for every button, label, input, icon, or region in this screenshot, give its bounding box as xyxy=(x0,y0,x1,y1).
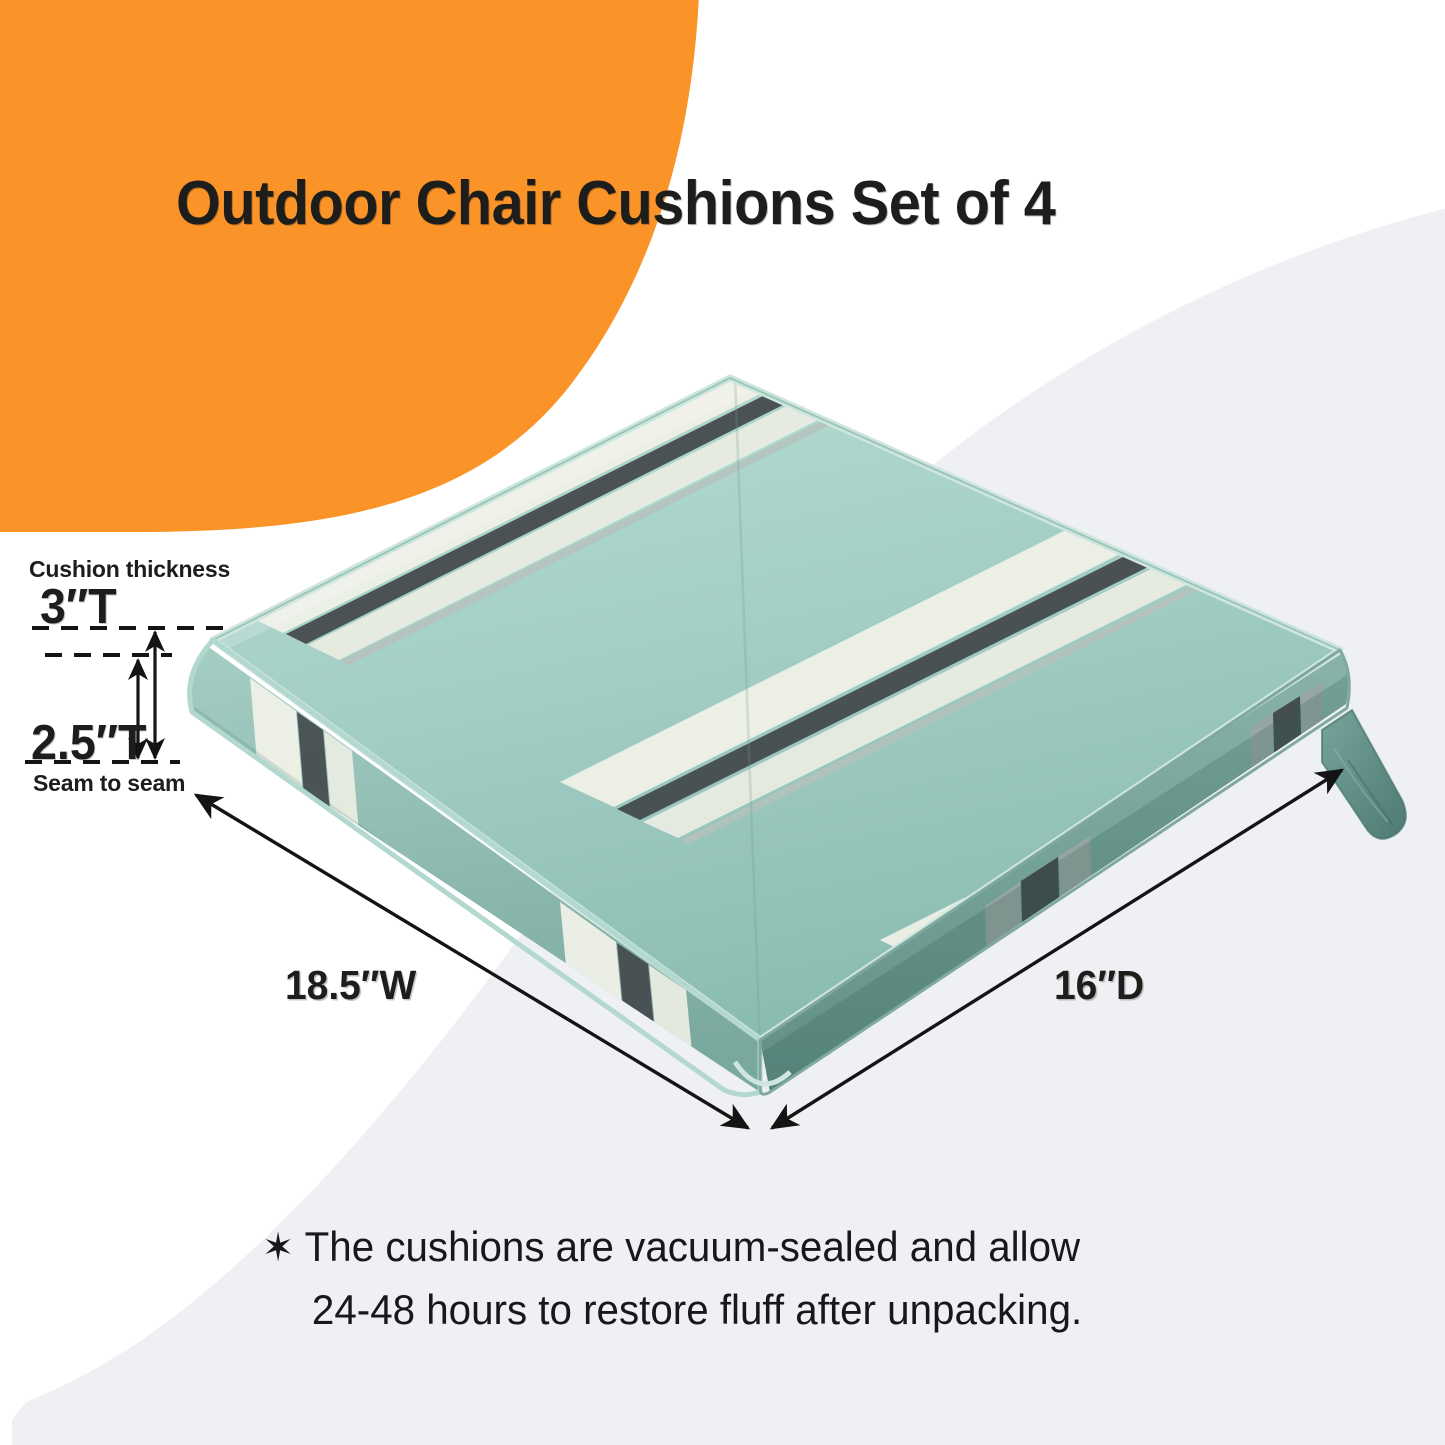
seam-to-seam-caption: Seam to seam xyxy=(33,770,185,797)
vacuum-seal-note: ✶ The cushions are vacuum-sealed and all… xyxy=(262,1216,1155,1341)
width-dimension-label: 18.5″W xyxy=(285,962,416,1009)
depth-dimension-label: 16″D xyxy=(1054,962,1144,1009)
thickness-total-value: 3″T xyxy=(40,579,117,635)
note-line-1: The cushions are vacuum-sealed and allow xyxy=(305,1223,1080,1270)
note-line-2: 24-48 hours to restore fluff after unpac… xyxy=(262,1279,1155,1341)
page-title: Outdoor Chair Cushions Set of 4 xyxy=(176,168,1055,239)
note-marker: ✶ xyxy=(262,1226,294,1270)
thickness-seam-value: 2.5″T xyxy=(31,715,146,771)
infographic-canvas: Outdoor Chair Cushions Set of 4 Cushion … xyxy=(0,0,1445,1445)
